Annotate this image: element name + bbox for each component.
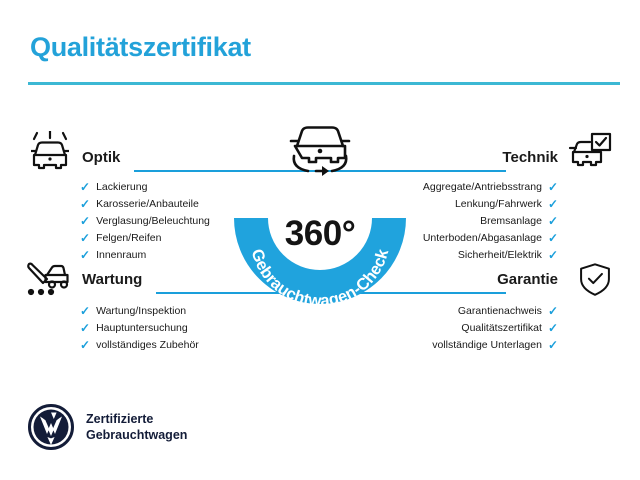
section-title: Technik	[502, 149, 558, 166]
list-item-label: Unterboden/Abgasanlage	[423, 232, 542, 244]
car-shine-icon	[27, 131, 73, 173]
list-item-label: Garantienachweis	[458, 305, 542, 317]
list-item-label: Felgen/Reifen	[96, 232, 161, 244]
list-item-label: Verglasung/Beleuchtung	[96, 215, 210, 227]
list-item-label: Bremsanlage	[480, 215, 542, 227]
check-icon: ✓	[548, 215, 558, 227]
list-item: vollständige Unterlagen✓	[330, 336, 558, 353]
check-icon: ✓	[80, 215, 90, 227]
check-icon: ✓	[548, 249, 558, 261]
section-title: Garantie	[497, 271, 558, 288]
list-item-label: Karosserie/Anbauteile	[96, 198, 199, 210]
section-title: Optik	[82, 149, 120, 166]
list-item: Qualitätszertifikat✓	[330, 319, 558, 336]
check-icon: ✓	[548, 339, 558, 351]
list-item-label: Hauptuntersuchung	[96, 322, 188, 334]
list-item: ✓vollständiges Zubehör	[80, 336, 310, 353]
360-check-badge: Gebrauchtwagen-Check 360°	[228, 118, 412, 318]
list-item-label: vollständiges Zubehör	[96, 339, 199, 351]
footer-line-2: Gebrauchtwagen	[86, 427, 187, 444]
list-item-label: Lenkung/Fahrwerk	[455, 198, 542, 210]
footer-logo-block: Zertifizierte Gebrauchtwagen	[28, 404, 187, 450]
car-front-rotate-icon	[278, 118, 362, 180]
list-item-label: Wartung/Inspektion	[96, 305, 186, 317]
page-title: Qualitätszertifikat	[30, 32, 251, 63]
shield-check-icon	[575, 259, 621, 301]
check-icon: ✓	[80, 322, 90, 334]
footer-text: Zertifizierte Gebrauchtwagen	[86, 411, 187, 444]
list-item: ✓Hauptuntersuchung	[80, 319, 310, 336]
check-icon: ✓	[548, 198, 558, 210]
certificate-page: Qualitätszertifikat Optik ✓Lackierung ✓K…	[0, 0, 640, 480]
section-title: Wartung	[82, 271, 142, 288]
check-icon: ✓	[548, 181, 558, 193]
list-item-label: Qualitätszertifikat	[461, 322, 542, 334]
check-icon: ✓	[80, 232, 90, 244]
check-icon: ✓	[80, 305, 90, 317]
list-item-label: Lackierung	[96, 181, 147, 193]
vw-logo	[28, 404, 74, 450]
check-icon: ✓	[80, 249, 90, 261]
check-icon: ✓	[548, 232, 558, 244]
list-item-label: vollständige Unterlagen	[432, 339, 542, 351]
check-icon: ✓	[80, 198, 90, 210]
list-item-label: Innenraum	[96, 249, 146, 261]
header-divider	[28, 82, 620, 85]
list-item-label: Aggregate/Antriebsstrang	[423, 181, 542, 193]
badge-degrees: 360°	[228, 214, 412, 254]
wrench-car-icon	[25, 258, 71, 300]
car-checkbox-icon	[568, 131, 614, 173]
list-item-label: Sicherheit/Elektrik	[458, 249, 542, 261]
check-icon: ✓	[548, 305, 558, 317]
check-icon: ✓	[80, 339, 90, 351]
check-icon: ✓	[80, 181, 90, 193]
check-icon: ✓	[548, 322, 558, 334]
footer-line-1: Zertifizierte	[86, 411, 187, 428]
